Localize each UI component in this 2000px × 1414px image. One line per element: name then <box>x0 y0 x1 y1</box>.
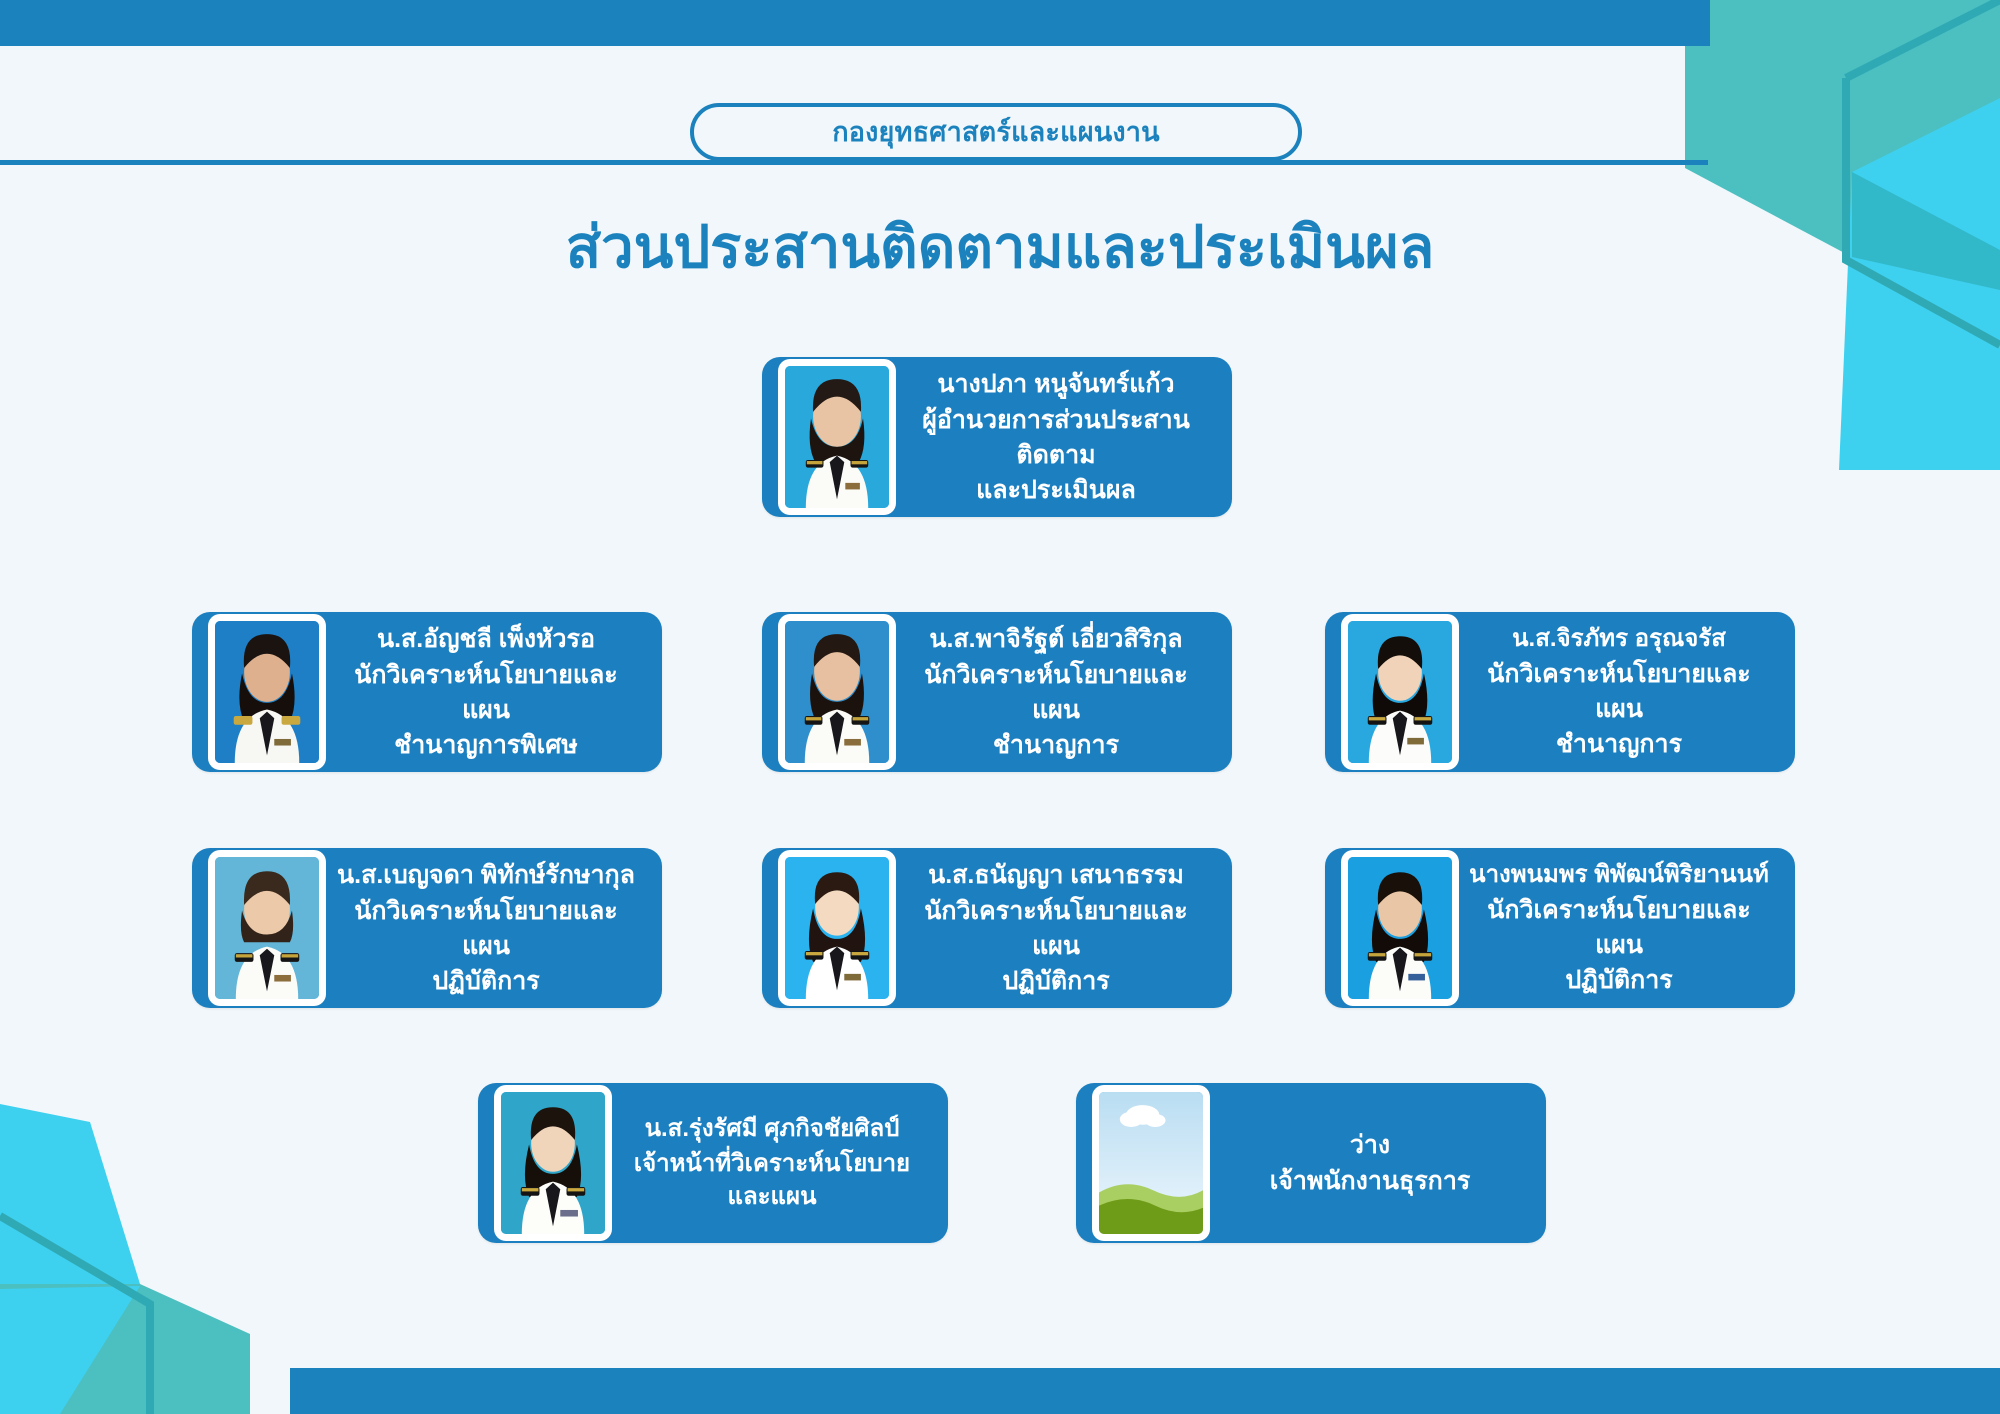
person-role-line1: เจ้าหน้าที่วิเคราะห์นโยบายและแผน <box>622 1147 922 1214</box>
organization-chart-page: กองยุทธศาสตร์และแผนงาน ส่วนประสานติดตามแ… <box>0 0 2000 1414</box>
bottom-accent-bar <box>290 1368 2000 1414</box>
person-role-line1: นักวิเคราะห์นโยบายและแผน <box>906 894 1206 964</box>
org-card-info: นางปภา หนูจันทร์แก้ว ผู้อำนวยการส่วนประส… <box>896 366 1216 507</box>
person-name: น.ส.พาจิรัฐต์ เอี่ยวสิริกุล <box>906 621 1206 657</box>
avatar <box>778 359 896 515</box>
org-card-member-6[interactable]: นางพนมพร พิพัฒน์พิริยานนท์ นักวิเคราะห์น… <box>1325 848 1795 1008</box>
page-title: ส่วนประสานติดตามและประเมินผล <box>0 218 2000 279</box>
avatar <box>1341 614 1459 770</box>
org-card-member-1[interactable]: น.ส.อัญชลี เพ็งหัวรอ นักวิเคราะห์นโยบายแ… <box>192 612 662 772</box>
person-role-line1: เจ้าพนักงานธุรการ <box>1220 1164 1520 1199</box>
person-role-line2: และประเมินผล <box>906 473 1206 508</box>
org-card-info: นางพนมพร พิพัฒน์พิริยานนท์ นักวิเคราะห์น… <box>1459 858 1779 998</box>
org-card-info: ว่าง เจ้าพนักงานธุรการ <box>1210 1127 1530 1198</box>
person-role-line1: นักวิเคราะห์นโยบายและแผน <box>336 658 636 728</box>
person-name: นางพนมพร พิพัฒน์พิริยานนท์ <box>1469 858 1769 893</box>
person-role-line2: ชำนาญการพิเศษ <box>336 728 636 763</box>
person-name: น.ส.อัญชลี เพ็งหัวรอ <box>336 621 636 657</box>
top-accent-bar <box>0 0 1710 46</box>
avatar <box>208 850 326 1006</box>
person-role-line2: ปฏิบัติการ <box>1469 963 1769 998</box>
avatar <box>494 1085 612 1241</box>
org-card-info: น.ส.รุ่งรัศมี ศุภกิจชัยศิลป์ เจ้าหน้าที่… <box>612 1112 932 1214</box>
org-card-director[interactable]: นางปภา หนูจันทร์แก้ว ผู้อำนวยการส่วนประส… <box>762 357 1232 517</box>
org-card-info: น.ส.พาจิรัฐต์ เอี่ยวสิริกุล นักวิเคราะห์… <box>896 621 1216 762</box>
org-card-member-2[interactable]: น.ส.พาจิรัฐต์ เอี่ยวสิริกุล นักวิเคราะห์… <box>762 612 1232 772</box>
person-role-line2: ปฏิบัติการ <box>336 964 636 999</box>
department-badge: กองยุทธศาสตร์และแผนงาน <box>690 103 1302 161</box>
person-role-line1: นักวิเคราะห์นโยบายและแผน <box>1469 893 1769 963</box>
avatar <box>778 850 896 1006</box>
person-role-line2: ปฏิบัติการ <box>906 964 1206 999</box>
org-card-member-4[interactable]: น.ส.เบญจดา พิทักษ์รักษากุล นักวิเคราะห์น… <box>192 848 662 1008</box>
person-role-line1: นักวิเคราะห์นโยบายและแผน <box>906 658 1206 728</box>
org-card-member-3[interactable]: น.ส.จิรภัทร อรุณจรัส นักวิเคราะห์นโยบายแ… <box>1325 612 1795 772</box>
decorative-shapes-bottom-left <box>0 1034 340 1414</box>
person-name: ว่าง <box>1220 1127 1520 1163</box>
person-name: นางปภา หนูจันทร์แก้ว <box>906 366 1206 402</box>
person-role-line1: นักวิเคราะห์นโยบายและแผน <box>1469 657 1769 727</box>
department-badge-label: กองยุทธศาสตร์และแผนงาน <box>832 119 1160 146</box>
person-name: น.ส.จิรภัทร อรุณจรัส <box>1469 622 1769 657</box>
org-card-info: น.ส.จิรภัทร อรุณจรัส นักวิเคราะห์นโยบายแ… <box>1459 622 1779 762</box>
avatar <box>1341 850 1459 1006</box>
person-name: น.ส.ธนัญญา เสนาธรรม <box>906 857 1206 893</box>
person-role-line1: ผู้อำนวยการส่วนประสานติดตาม <box>906 403 1206 473</box>
person-role-line1: นักวิเคราะห์นโยบายและแผน <box>336 894 636 964</box>
org-card-info: น.ส.อัญชลี เพ็งหัวรอ นักวิเคราะห์นโยบายแ… <box>326 621 646 762</box>
org-card-member-5[interactable]: น.ส.ธนัญญา เสนาธรรม นักวิเคราะห์นโยบายแล… <box>762 848 1232 1008</box>
avatar <box>208 614 326 770</box>
person-name: น.ส.รุ่งรัศมี ศุภกิจชัยศิลป์ <box>622 1112 922 1147</box>
person-role-line2: ชำนาญการ <box>1469 727 1769 762</box>
person-name: น.ส.เบญจดา พิทักษ์รักษากุล <box>336 857 636 893</box>
image-placeholder-icon <box>1092 1085 1210 1241</box>
person-role-line2: ชำนาญการ <box>906 728 1206 763</box>
org-card-vacant-position[interactable]: ว่าง เจ้าพนักงานธุรการ <box>1076 1083 1546 1243</box>
avatar <box>778 614 896 770</box>
org-card-info: น.ส.ธนัญญา เสนาธรรม นักวิเคราะห์นโยบายแล… <box>896 857 1216 998</box>
org-card-info: น.ส.เบญจดา พิทักษ์รักษากุล นักวิเคราะห์น… <box>326 857 646 998</box>
org-card-member-7[interactable]: น.ส.รุ่งรัศมี ศุภกิจชัยศิลป์ เจ้าหน้าที่… <box>478 1083 948 1243</box>
